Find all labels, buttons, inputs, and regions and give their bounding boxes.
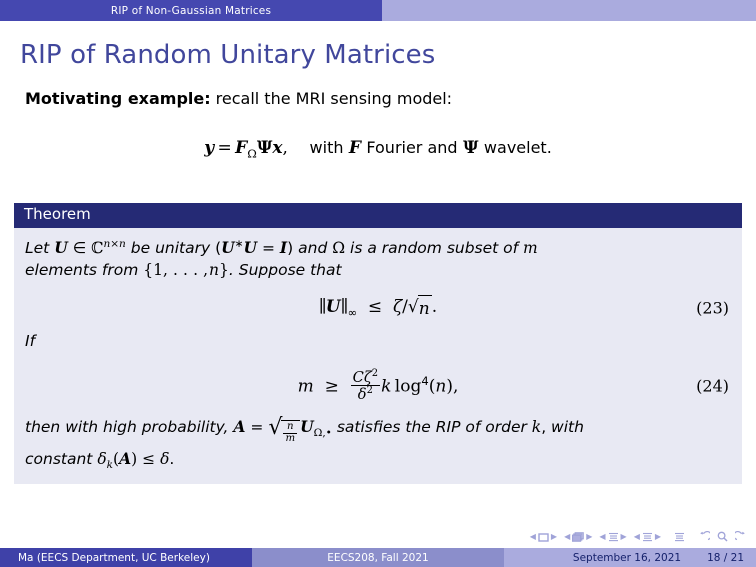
forward-icon[interactable] xyxy=(735,527,746,546)
footer-course: EECS208, Fall 2021 xyxy=(252,548,504,567)
slide-navigation-group[interactable]: ◀ ▶ xyxy=(530,527,557,546)
section-nav-icon[interactable] xyxy=(642,527,653,546)
frame-navigation-group[interactable]: ◀ ▶ xyxy=(564,527,592,546)
header-section-tab[interactable]: RIP of Non-Gaussian Matrices xyxy=(0,0,382,21)
section-next-icon[interactable]: ▶ xyxy=(655,533,661,541)
theorem-if-label: If xyxy=(25,330,731,352)
theorem-block: Theorem Let U ∈ ℂn×n be unitary (U∗U = I… xyxy=(14,203,742,484)
subsection-next-icon[interactable]: ▶ xyxy=(621,533,627,541)
footer-page-number: 18 / 21 xyxy=(707,552,744,564)
footer-course-label: EECS208, Fall 2021 xyxy=(327,552,428,564)
frame-next-icon[interactable]: ▶ xyxy=(586,533,592,541)
equation-23: ∥U∥∞ ≤ ζ/√n. (23) xyxy=(25,295,731,322)
subsection-nav-icon[interactable] xyxy=(608,527,619,546)
beamer-navigation-symbols[interactable]: ◀ ▶ ◀ ▶ ◀ ▶ ◀ xyxy=(530,527,746,546)
equation-24: m ≥ Cζ2δ2k log4(n), (24) xyxy=(25,369,731,402)
theorem-statement-hypothesis: Let U ∈ ℂn×n be unitary (U∗U = I) and Ω … xyxy=(25,237,731,282)
motivating-example-line: Motivating example:recall the MRI sensin… xyxy=(25,89,452,108)
motivating-example-label: Motivating example: xyxy=(25,89,211,108)
subsection-navigation-group[interactable]: ◀ ▶ xyxy=(599,527,626,546)
page-title: RIP of Random Unitary Matrices xyxy=(20,40,435,70)
section-navigation-group[interactable]: ◀ ▶ xyxy=(634,527,661,546)
theorem-statement-conclusion: then with high probability, A = √nmUΩ,• … xyxy=(25,416,731,473)
frame-nav-icon[interactable] xyxy=(572,527,584,546)
motivating-example-text: recall the MRI sensing model: xyxy=(216,89,452,108)
frame-prev-icon[interactable]: ◀ xyxy=(564,533,570,541)
slide-nav-icon[interactable] xyxy=(538,527,549,546)
back-icon[interactable] xyxy=(699,527,710,546)
presentation-nav-icon[interactable] xyxy=(674,527,685,546)
header-section-title: RIP of Non-Gaussian Matrices xyxy=(111,5,271,17)
theorem-block-body: Let U ∈ ℂn×n be unitary (U∗U = I) and Ω … xyxy=(14,228,742,485)
header-empty-tab[interactable] xyxy=(382,0,756,21)
slide-header-bar: RIP of Non-Gaussian Matrices xyxy=(0,0,756,21)
theorem-block-title: Theorem xyxy=(14,203,742,228)
footer-date-label: September 16, 2021 xyxy=(573,552,681,564)
slide-footer-bar: Ma (EECS Department, UC Berkeley) EECS20… xyxy=(0,548,756,567)
subsection-prev-icon[interactable]: ◀ xyxy=(599,533,605,541)
mri-model-equation: y = FΩΨx, with F Fourier and Ψ wavelet. xyxy=(0,138,756,160)
section-prev-icon[interactable]: ◀ xyxy=(634,533,640,541)
footer-author: Ma (EECS Department, UC Berkeley) xyxy=(0,548,252,567)
footer-date-page: September 16, 2021 18 / 21 xyxy=(504,548,756,567)
equation-24-number: (24) xyxy=(696,374,729,397)
search-icon[interactable] xyxy=(717,527,728,546)
footer-author-label: Ma (EECS Department, UC Berkeley) xyxy=(18,552,210,564)
slide-next-icon[interactable]: ▶ xyxy=(551,533,557,541)
equation-23-number: (23) xyxy=(696,297,729,320)
slide-prev-icon[interactable]: ◀ xyxy=(530,533,536,541)
